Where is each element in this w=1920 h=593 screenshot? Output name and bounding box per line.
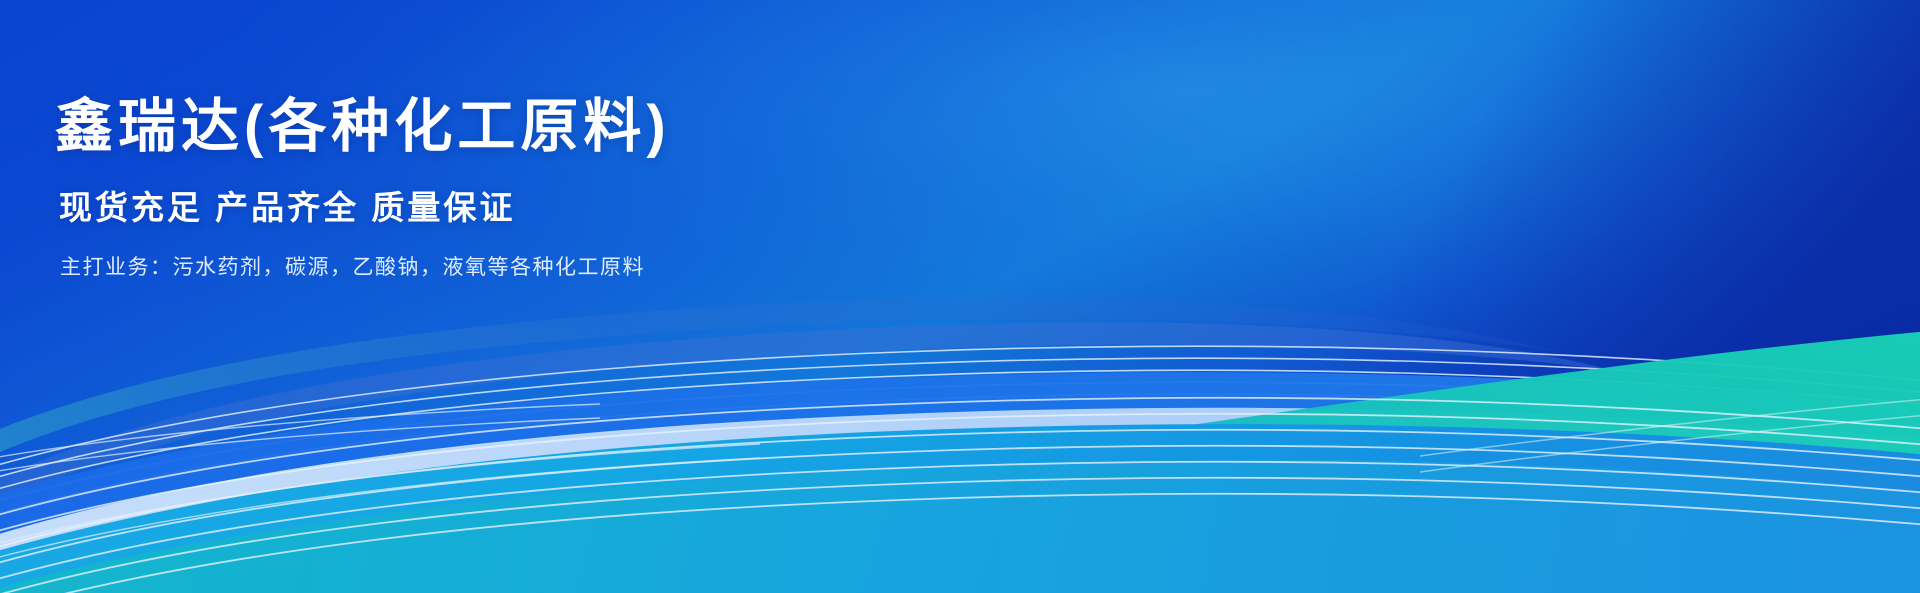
- page-title: 鑫瑞达(各种化工原料): [55, 96, 671, 159]
- tagline: 现货充足 产品齐全 质量保证: [59, 181, 671, 229]
- headline-block: 鑫瑞达(各种化工原料) 现货充足 产品齐全 质量保证 主打业务：污水药剂，碳源，…: [55, 96, 671, 281]
- business-scope-text: 主打业务：污水药剂，碳源，乙酸钠，液氧等各种化工原料: [60, 251, 671, 281]
- industrial-skyline-artwork: [0, 0, 1920, 593]
- promo-banner: 鑫瑞达(各种化工原料) 现货充足 产品齐全 质量保证 主打业务：污水药剂，碳源，…: [0, 0, 1920, 593]
